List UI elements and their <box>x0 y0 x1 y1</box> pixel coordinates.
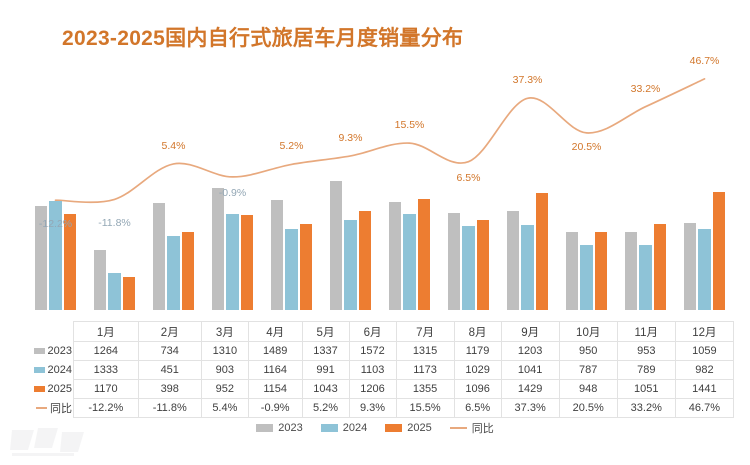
chart-container: 2023-2025国内自行式旅居车月度销量分布 -12.2%-11.8%5.4%… <box>0 0 750 465</box>
table-cell: 991 <box>302 361 349 380</box>
table-col-header-12: 12月 <box>675 322 733 342</box>
table-cell: 1103 <box>349 361 396 380</box>
table-row-label-2023: 2023 <box>26 342 74 361</box>
table-cell: 734 <box>138 342 201 361</box>
table-cell: 982 <box>675 361 733 380</box>
row-label-text: 2025 <box>34 383 72 395</box>
bar-2024-4月 <box>226 214 239 310</box>
bar-2025-3月 <box>182 232 195 310</box>
legend-swatch-2023 <box>256 424 273 432</box>
table-col-header-8: 8月 <box>454 322 501 342</box>
point-label-5月: 5.2% <box>280 140 304 152</box>
table-col-header-4: 4月 <box>248 322 302 342</box>
table-cell: 1096 <box>454 380 501 399</box>
bar-2024-12月 <box>698 229 711 310</box>
table-cell: 1355 <box>396 380 454 399</box>
point-label-6月: 9.3% <box>339 132 363 144</box>
legend-swatch-同比 <box>450 427 467 429</box>
bar-2025-12月 <box>713 192 726 310</box>
table-col-header-11: 11月 <box>617 322 675 342</box>
table-cell: 1154 <box>248 380 302 399</box>
table-cell: 1264 <box>74 342 139 361</box>
legend-label: 2025 <box>407 422 431 434</box>
point-label-9月: 37.3% <box>513 74 543 86</box>
legend-item-2025[interactable]: 2025 <box>385 422 431 434</box>
point-label-10月: 20.5% <box>572 141 602 153</box>
row-swatch-同比 <box>36 407 47 409</box>
table-cell: 1029 <box>454 361 501 380</box>
legend-swatch-2025 <box>385 424 402 432</box>
bar-2024-7月 <box>403 214 416 310</box>
bar-2025-6月 <box>359 211 372 310</box>
bar-2024-2月 <box>108 273 121 310</box>
table-cell: 1043 <box>302 380 349 399</box>
table-row-label-同比: 同比 <box>26 399 74 418</box>
table-cell: 950 <box>559 342 617 361</box>
chart-legend: 202320242025同比 <box>0 420 750 436</box>
bar-2023-8月 <box>448 213 461 310</box>
chart-title: 2023-2025国内自行式旅居车月度销量分布 <box>62 22 463 52</box>
table-col-header-9: 9月 <box>501 322 559 342</box>
table-cell: 1572 <box>349 342 396 361</box>
bar-2025-2月 <box>123 277 136 310</box>
bar-2025-10月 <box>595 232 608 310</box>
table-cell: 952 <box>201 380 248 399</box>
bar-2024-8月 <box>462 226 475 310</box>
table-cell: 1441 <box>675 380 733 399</box>
table-row: 2025117039895211541043120613551096142994… <box>26 380 734 399</box>
legend-label: 同比 <box>472 420 494 436</box>
bar-2024-3月 <box>167 236 180 310</box>
table-col-header-5: 5月 <box>302 322 349 342</box>
bar-2025-9月 <box>536 193 549 310</box>
table-cell: 451 <box>138 361 201 380</box>
table-cell: 5.4% <box>201 399 248 418</box>
table-cell: 15.5% <box>396 399 454 418</box>
table-cell: 1489 <box>248 342 302 361</box>
table-cell: 789 <box>617 361 675 380</box>
bar-2023-4月 <box>212 188 225 310</box>
bar-2023-12月 <box>684 223 697 310</box>
bar-2023-10月 <box>566 232 579 310</box>
bar-2024-6月 <box>344 220 357 311</box>
table-cell: 20.5% <box>559 399 617 418</box>
bar-2024-11月 <box>639 245 652 310</box>
table-cell: 1337 <box>302 342 349 361</box>
bar-2024-1月 <box>49 201 62 310</box>
table-cell: -11.8% <box>138 399 201 418</box>
table-cell: 9.3% <box>349 399 396 418</box>
table-cell: 33.2% <box>617 399 675 418</box>
table-corner-cell <box>26 322 74 342</box>
table-cell: 787 <box>559 361 617 380</box>
legend-item-2024[interactable]: 2024 <box>321 422 367 434</box>
table-row-label-2025: 2025 <box>26 380 74 399</box>
table-cell: 1203 <box>501 342 559 361</box>
bar-2023-9月 <box>507 211 520 310</box>
table-cell: 1164 <box>248 361 302 380</box>
table-col-header-3: 3月 <box>201 322 248 342</box>
table-cell: 6.5% <box>454 399 501 418</box>
table-row: 2023126473413101489133715721315117912039… <box>26 342 734 361</box>
bar-2025-11月 <box>654 224 667 310</box>
point-label-3月: 5.4% <box>162 140 186 152</box>
row-label-text: 2023 <box>34 345 72 357</box>
table-cell: 1429 <box>501 380 559 399</box>
table-cell: 46.7% <box>675 399 733 418</box>
table-col-header-2: 2月 <box>138 322 201 342</box>
table-cell: 1170 <box>74 380 139 399</box>
point-label-8月: 6.5% <box>457 172 481 184</box>
bar-2023-11月 <box>625 232 638 310</box>
table-col-header-1: 1月 <box>74 322 139 342</box>
bar-2023-5月 <box>271 200 284 310</box>
table-cell: 398 <box>138 380 201 399</box>
table-cell: -12.2% <box>74 399 139 418</box>
table-col-header-10: 10月 <box>559 322 617 342</box>
row-label-text: 同比 <box>36 400 72 416</box>
table-cell: 1051 <box>617 380 675 399</box>
bar-2024-9月 <box>521 225 534 310</box>
table-cell: 1179 <box>454 342 501 361</box>
yoy-trend-line <box>56 79 705 202</box>
table-cell: 1310 <box>201 342 248 361</box>
row-swatch-2025 <box>34 386 45 392</box>
table-cell: 1206 <box>349 380 396 399</box>
table-row-label-2024: 2024 <box>26 361 74 380</box>
legend-label: 2024 <box>343 422 367 434</box>
table-col-header-7: 7月 <box>396 322 454 342</box>
legend-swatch-2024 <box>321 424 338 432</box>
table-cell: 1059 <box>675 342 733 361</box>
bar-2025-7月 <box>418 199 431 310</box>
bar-2025-4月 <box>241 215 254 310</box>
bar-2024-10月 <box>580 245 593 310</box>
table-col-header-6: 6月 <box>349 322 396 342</box>
table-body: 2023126473413101489133715721315117912039… <box>26 342 734 418</box>
table-cell: -0.9% <box>248 399 302 418</box>
legend-item-2023[interactable]: 2023 <box>256 422 302 434</box>
table-cell: 1041 <box>501 361 559 380</box>
bar-2023-3月 <box>153 203 166 311</box>
bar-2025-5月 <box>300 224 313 310</box>
table-header-row: 1月2月3月4月5月6月7月8月9月10月11月12月 <box>26 322 734 342</box>
point-label-2月: -11.8% <box>98 217 131 229</box>
table-cell: 5.2% <box>302 399 349 418</box>
table-cell: 1173 <box>396 361 454 380</box>
point-label-11月: 33.2% <box>631 83 661 95</box>
table-cell: 37.3% <box>501 399 559 418</box>
table-cell: 948 <box>559 380 617 399</box>
bar-2025-8月 <box>477 220 490 310</box>
plot-area: -12.2%-11.8%5.4%-0.9%5.2%9.3%15.5%6.5%37… <box>0 60 750 315</box>
point-label-12月: 46.7% <box>690 55 720 67</box>
table-row: 2024133345190311649911103117310291041787… <box>26 361 734 380</box>
table-cell: 1333 <box>74 361 139 380</box>
bar-2023-7月 <box>389 202 402 310</box>
table-cell: 953 <box>617 342 675 361</box>
row-label-text: 2024 <box>34 364 72 376</box>
bar-2023-2月 <box>94 250 107 310</box>
row-swatch-2023 <box>34 348 45 354</box>
row-swatch-2024 <box>34 367 45 373</box>
bar-2023-6月 <box>330 181 343 310</box>
table-cell: 903 <box>201 361 248 380</box>
point-label-1月: -12.2% <box>39 218 72 230</box>
legend-item-同比[interactable]: 同比 <box>450 420 494 436</box>
table-row: 同比-12.2%-11.8%5.4%-0.9%5.2%9.3%15.5%6.5%… <box>26 399 734 418</box>
legend-label: 2023 <box>278 422 302 434</box>
bar-2024-5月 <box>285 229 298 310</box>
table-cell: 1315 <box>396 342 454 361</box>
point-label-7月: 15.5% <box>395 119 425 131</box>
data-table: 1月2月3月4月5月6月7月8月9月10月11月12月 202312647341… <box>26 321 734 418</box>
point-label-4月: -0.9% <box>219 187 246 199</box>
